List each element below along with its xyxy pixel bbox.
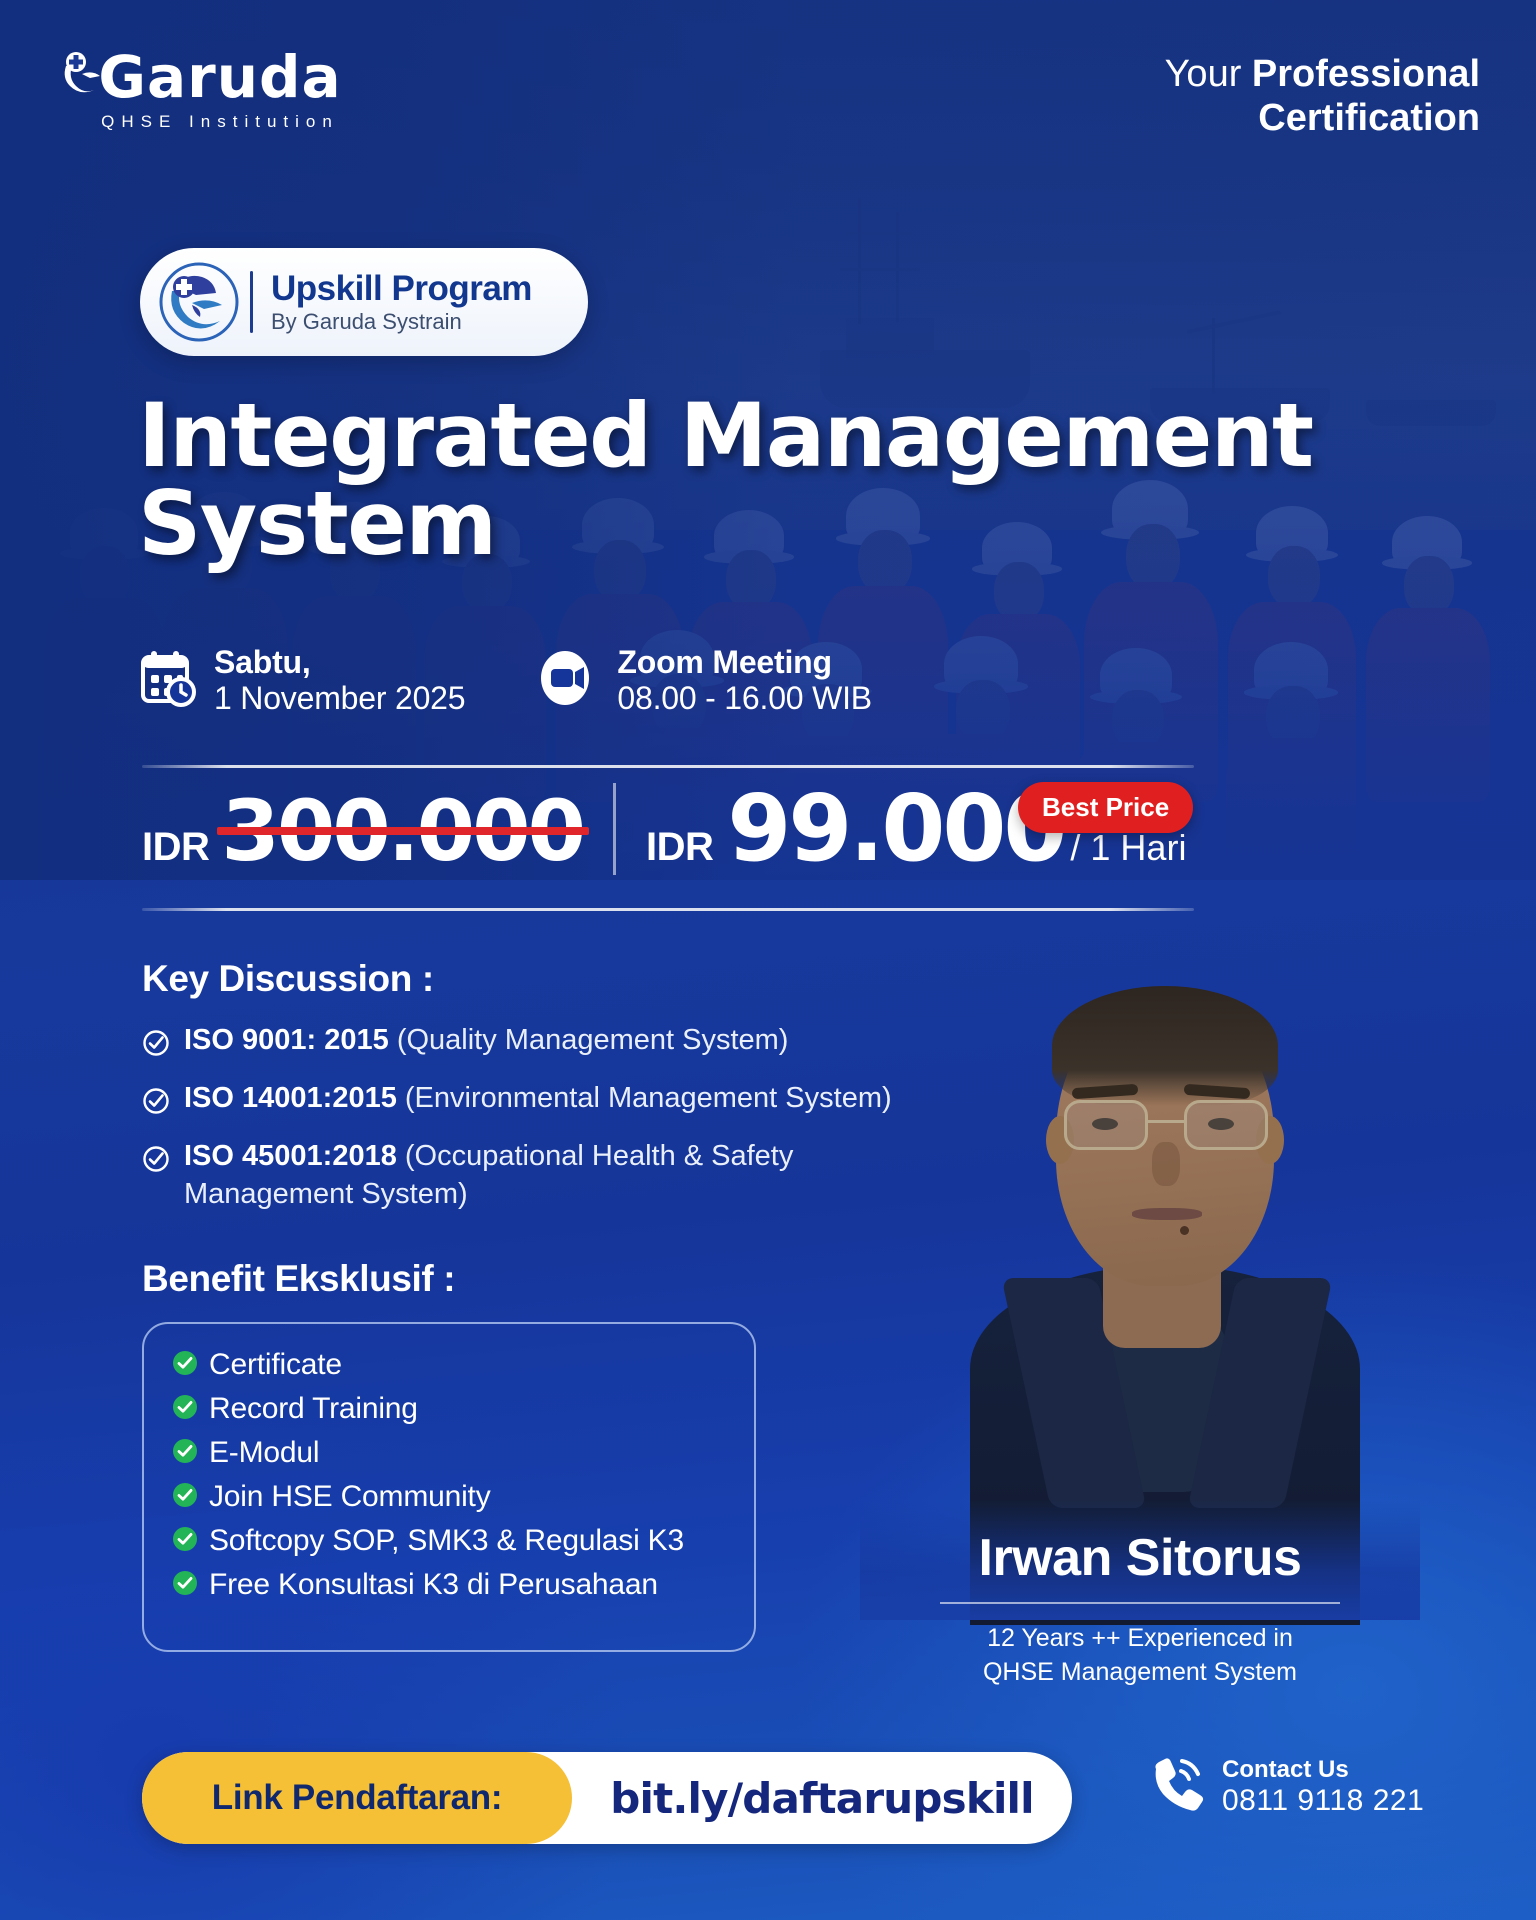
event-platform: Zoom Meeting xyxy=(617,645,872,681)
header-tagline: Your Professional Certification xyxy=(1165,52,1480,140)
iso-desc: (Quality Management System) xyxy=(389,1024,789,1056)
list-item: Softcopy SOP, SMK3 & Regulasi K3 xyxy=(172,1524,684,1558)
brand-logo: Garuda QHSE Institution xyxy=(60,48,380,132)
benefit-label: Record Training xyxy=(209,1392,418,1426)
check-badge-icon xyxy=(172,1394,198,1425)
price-vertical-divider xyxy=(613,783,616,875)
garuda-qhse-logo-icon xyxy=(56,44,118,106)
speaker-role-line-2: QHSE Management System xyxy=(983,1658,1297,1686)
glasses-lens-right xyxy=(1184,1100,1268,1150)
event-date-block: Sabtu, 1 November 2025 xyxy=(140,645,465,717)
event-meta: Sabtu, 1 November 2025 Zoom Meeting 08.0… xyxy=(140,645,872,717)
event-date-day: Sabtu, xyxy=(214,645,465,681)
new-price-currency: IDR xyxy=(646,825,713,870)
check-badge-icon xyxy=(172,1350,198,1381)
iso-code: ISO 14001:2015 xyxy=(184,1082,397,1114)
event-platform-block: Zoom Meeting 08.00 - 16.00 WIB xyxy=(539,645,872,717)
check-badge-icon xyxy=(172,1526,198,1557)
poster-root: Garuda QHSE Institution Your Professiona… xyxy=(0,0,1536,1920)
badge-title: Upskill Program xyxy=(271,270,532,308)
check-circle-icon xyxy=(142,1087,170,1120)
old-price-currency: IDR xyxy=(142,825,209,870)
key-discussion-heading: Key Discussion : xyxy=(142,958,434,1000)
best-price-badge: Best Price xyxy=(1018,782,1193,833)
contact-number[interactable]: 0811 9118 221 xyxy=(1222,1784,1424,1819)
logo-subtitle: QHSE Institution xyxy=(60,112,380,132)
benefits-list: Certificate Record Training E-Modul Join… xyxy=(172,1348,684,1612)
phone-ring-icon xyxy=(1148,1757,1206,1818)
glasses-bridge xyxy=(1148,1120,1184,1123)
contact-block[interactable]: Contact Us 0811 9118 221 xyxy=(1148,1756,1424,1819)
list-item: Free Konsultasi K3 di Perusahaan xyxy=(172,1568,684,1602)
page-title: Integrated Management System xyxy=(138,392,1368,568)
check-badge-icon xyxy=(172,1570,198,1601)
contact-label: Contact Us xyxy=(1222,1756,1424,1784)
tagline-your: Your xyxy=(1165,53,1252,95)
speaker-mole xyxy=(1180,1226,1189,1235)
check-circle-icon xyxy=(142,1029,170,1062)
check-badge-icon xyxy=(172,1482,198,1513)
speaker-portrait xyxy=(860,920,1420,1620)
badge-subtitle: By Garuda Systrain xyxy=(271,310,532,334)
speaker-role-line-1: 12 Years ++ Experienced in xyxy=(987,1624,1293,1652)
benefits-heading: Benefit Eksklusif : xyxy=(142,1258,455,1300)
divider-below-price xyxy=(142,908,1194,911)
price-strikethrough xyxy=(217,827,589,835)
event-date-full: 1 November 2025 xyxy=(214,681,465,717)
benefit-label: Certificate xyxy=(209,1348,342,1382)
event-time: 08.00 - 16.00 WIB xyxy=(617,681,872,717)
speaker-role: 12 Years ++ Experienced in QHSE Manageme… xyxy=(880,1622,1400,1690)
upskill-program-badge: Upskill Program By Garuda Systrain xyxy=(140,248,588,356)
price-unit: / 1 Hari xyxy=(1070,827,1186,869)
garuda-circle-emblem-icon xyxy=(158,261,240,343)
divider-above-price xyxy=(142,765,1194,768)
benefit-label: Softcopy SOP, SMK3 & Regulasi K3 xyxy=(209,1524,684,1558)
video-camera-icon xyxy=(539,649,599,712)
benefit-label: E-Modul xyxy=(209,1436,319,1470)
benefit-label: Free Konsultasi K3 di Perusahaan xyxy=(209,1568,658,1602)
iso-code: ISO 45001:2018 xyxy=(184,1140,397,1172)
iso-code: ISO 9001: 2015 xyxy=(184,1024,389,1056)
list-item: Certificate xyxy=(172,1348,684,1382)
registration-label: Link Pendaftaran: xyxy=(142,1752,572,1844)
benefit-label: Join HSE Community xyxy=(209,1480,491,1514)
tagline-certification: Certification xyxy=(1165,96,1480,140)
old-price-wrap: 300.000 xyxy=(221,789,583,873)
check-badge-icon xyxy=(172,1438,198,1469)
list-item: E-Modul xyxy=(172,1436,684,1470)
speaker-name: Irwan Sitorus xyxy=(880,1528,1400,1588)
benefits-box: Certificate Record Training E-Modul Join… xyxy=(142,1322,756,1652)
title-line-2: System xyxy=(138,480,1368,568)
glasses-lens-left xyxy=(1064,1100,1148,1150)
badge-divider xyxy=(250,271,253,333)
speaker-divider xyxy=(940,1602,1340,1604)
speaker-nose xyxy=(1152,1142,1180,1186)
registration-bar[interactable]: Link Pendaftaran: bit.ly/daftarupskill xyxy=(142,1752,1072,1844)
registration-link[interactable]: bit.ly/daftarupskill xyxy=(572,1774,1072,1823)
calendar-clock-icon xyxy=(140,649,196,712)
tagline-professional: Professional xyxy=(1252,53,1480,95)
iso-desc: (Environmental Management System) xyxy=(397,1082,892,1114)
list-item: Join HSE Community xyxy=(172,1480,684,1514)
new-price-amount: 99.000 xyxy=(727,783,1064,875)
list-item: Record Training xyxy=(172,1392,684,1426)
check-circle-icon xyxy=(142,1145,170,1178)
speaker-mouth xyxy=(1132,1208,1202,1220)
